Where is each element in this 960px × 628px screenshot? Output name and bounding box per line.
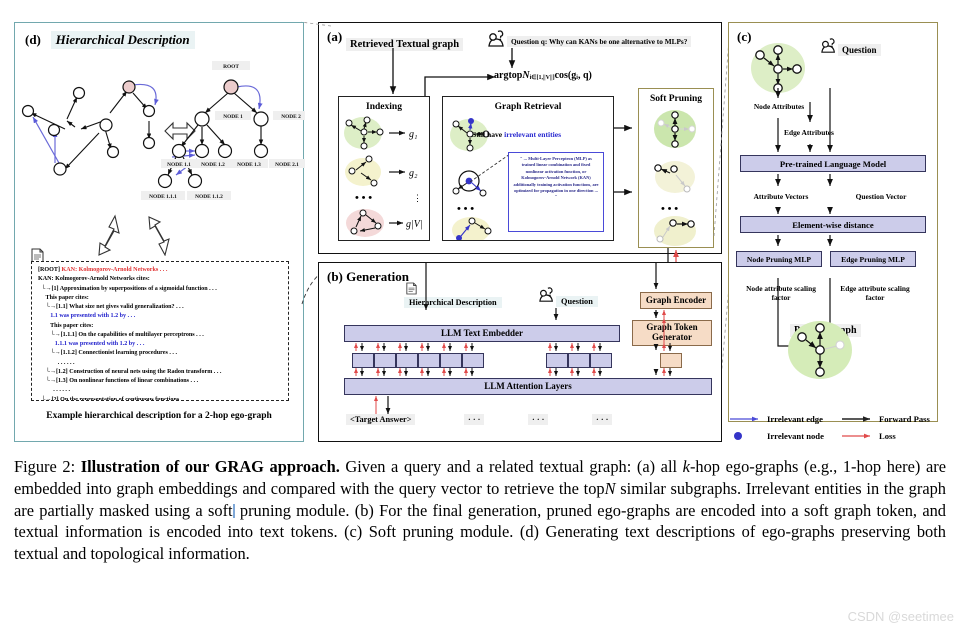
description-line: └→[1.1.2] Connectionist learning procedu… bbox=[38, 349, 283, 358]
legend: Irrelevant edge Forward Pass Irrelevant … bbox=[730, 414, 945, 446]
panel-c-question-label: Question bbox=[838, 44, 881, 56]
caption-prefix: Figure 2: bbox=[14, 457, 81, 476]
description-line: └→[2] On the representation of continuou… bbox=[38, 396, 283, 402]
argtop-formula: argtopNi∈[1,||V||]cos(gi, q) bbox=[494, 70, 592, 81]
tree-label-node112: NODE 1.1.2 bbox=[195, 194, 223, 200]
legend-dot-blue-icon bbox=[730, 431, 764, 441]
soft-pruning-ellipsis: • • • bbox=[661, 203, 678, 215]
question-person-icon-pruning bbox=[820, 38, 838, 54]
legend-item-irrelevant-edge: Irrelevant edge bbox=[730, 414, 823, 424]
soft-pruning-title: Soft Pruning bbox=[639, 94, 713, 104]
irrelevant-entities-note: Still have irrelevant entities bbox=[472, 130, 561, 139]
caption-italic-k: k bbox=[683, 457, 690, 476]
legend-label-forward-pass: Forward Pass bbox=[879, 414, 930, 424]
description-line: [ROOT] KAN: Kolmogorov-Arnold Networks .… bbox=[38, 266, 283, 275]
description-line: └→[1.3] On nonlinear functions of linear… bbox=[38, 377, 283, 386]
description-line: └→[1] Approximation by superpositions of… bbox=[38, 285, 283, 294]
indexing-gv: g|V| bbox=[406, 219, 423, 230]
panel-c-arrows bbox=[732, 88, 932, 408]
indexing-g1: g₁ bbox=[409, 129, 417, 140]
description-line: 1.1 was presented with 1.2 by . . . bbox=[38, 312, 283, 321]
tree-label-root: ROOT bbox=[223, 64, 239, 70]
legend-label-loss: Loss bbox=[879, 431, 896, 441]
panel-d-title: (d) Hierarchical Description bbox=[25, 31, 195, 49]
indexing-vdots: ⋮ bbox=[413, 193, 422, 203]
watermark: CSDN @seetimee bbox=[848, 609, 954, 624]
panel-d-label: (d) bbox=[25, 32, 41, 47]
output-dots-3: · · · bbox=[592, 414, 612, 425]
description-line: . . . . . . bbox=[38, 386, 283, 395]
description-line: This paper cites: bbox=[38, 322, 283, 331]
legend-item-loss: Loss bbox=[842, 431, 896, 441]
legend-arrow-blue-icon bbox=[730, 415, 764, 423]
description-line: └→[1.2] Construction of neural nets usin… bbox=[38, 368, 283, 377]
legend-arrow-red-icon bbox=[842, 432, 876, 440]
description-line: 1.1.1 was presented with 1.2 by . . . bbox=[38, 340, 283, 349]
panel-d-caption: Example hierarchical description for a 2… bbox=[15, 411, 303, 421]
indexing-g2: g₂ bbox=[409, 168, 418, 179]
hierarchical-description-text: [ROOT] KAN: Kolmogorov-Arnold Networks .… bbox=[31, 261, 289, 401]
description-line: This paper cites: bbox=[38, 294, 283, 303]
panel-d-graph-and-tree: ROOT NODE 1 NODE 2 NODE 1.1 NODE 1.2 NOD… bbox=[15, 51, 305, 256]
panel-d-hierarchical-description: (d) Hierarchical Description bbox=[14, 22, 304, 442]
soft-pruning-subpanel: Soft Pruning • • • bbox=[638, 88, 714, 248]
indexing-subpanel: Indexing g₁ g₂ • • • ⋮ bbox=[338, 96, 430, 241]
figure-area: (d) Hierarchical Description bbox=[0, 0, 960, 450]
tree-label-node13: NODE 1.3 bbox=[237, 162, 261, 168]
retrieval-ellipsis: • • • bbox=[457, 203, 474, 215]
legend-item-irrelevant-node: Irrelevant node bbox=[730, 431, 824, 441]
tree-label-node11: NODE 1.1 bbox=[167, 162, 191, 168]
figure-caption: Figure 2: Illustration of our GRAG appro… bbox=[14, 456, 946, 565]
output-dots-2: · · · bbox=[528, 414, 548, 425]
tree-label-node111: NODE 1.1.1 bbox=[149, 194, 177, 200]
tree-label-node12: NODE 1.2 bbox=[201, 162, 225, 168]
soft-pruning-graphs: • • • bbox=[639, 107, 713, 247]
legend-arrow-black-icon bbox=[842, 415, 876, 423]
indexing-title: Indexing bbox=[339, 102, 429, 112]
caption-rest-1: Given a query and a related textual grap… bbox=[340, 457, 683, 476]
tree-label-node1: NODE 1 bbox=[223, 114, 243, 120]
indexing-ellipsis: • • • bbox=[355, 192, 372, 204]
legend-label-irrelevant-edge: Irrelevant edge bbox=[767, 414, 823, 424]
graph-retrieval-title: Graph Retrieval bbox=[443, 102, 613, 112]
target-answer-label: <Target Answer> bbox=[346, 414, 415, 425]
caption-bold: Illustration of our GRAG approach. bbox=[81, 457, 340, 476]
retrieved-text-callout: " ... Multi-Layer Perceptron (MLP) as tr… bbox=[508, 152, 604, 232]
legend-label-irrelevant-node: Irrelevant node bbox=[767, 431, 824, 441]
indexing-graphs: g₁ g₂ • • • ⋮ g|V| bbox=[339, 115, 429, 240]
caption-italic-n: N bbox=[605, 479, 616, 498]
description-line: └→[1.1.1] On the capabilities of multila… bbox=[38, 331, 283, 340]
description-line: . . . . . . bbox=[38, 359, 283, 368]
description-line: KAN: Kolmogorov-Arnold Networks cites: bbox=[38, 275, 283, 284]
panel-d-title-text: Hierarchical Description bbox=[51, 31, 195, 49]
output-dots-1: · · · bbox=[464, 414, 484, 425]
description-line: └→[1.1] What size net gives valid genera… bbox=[38, 303, 283, 312]
retrieval-to-pruning-arrows bbox=[614, 110, 640, 220]
legend-item-forward-pass: Forward Pass bbox=[842, 414, 930, 424]
